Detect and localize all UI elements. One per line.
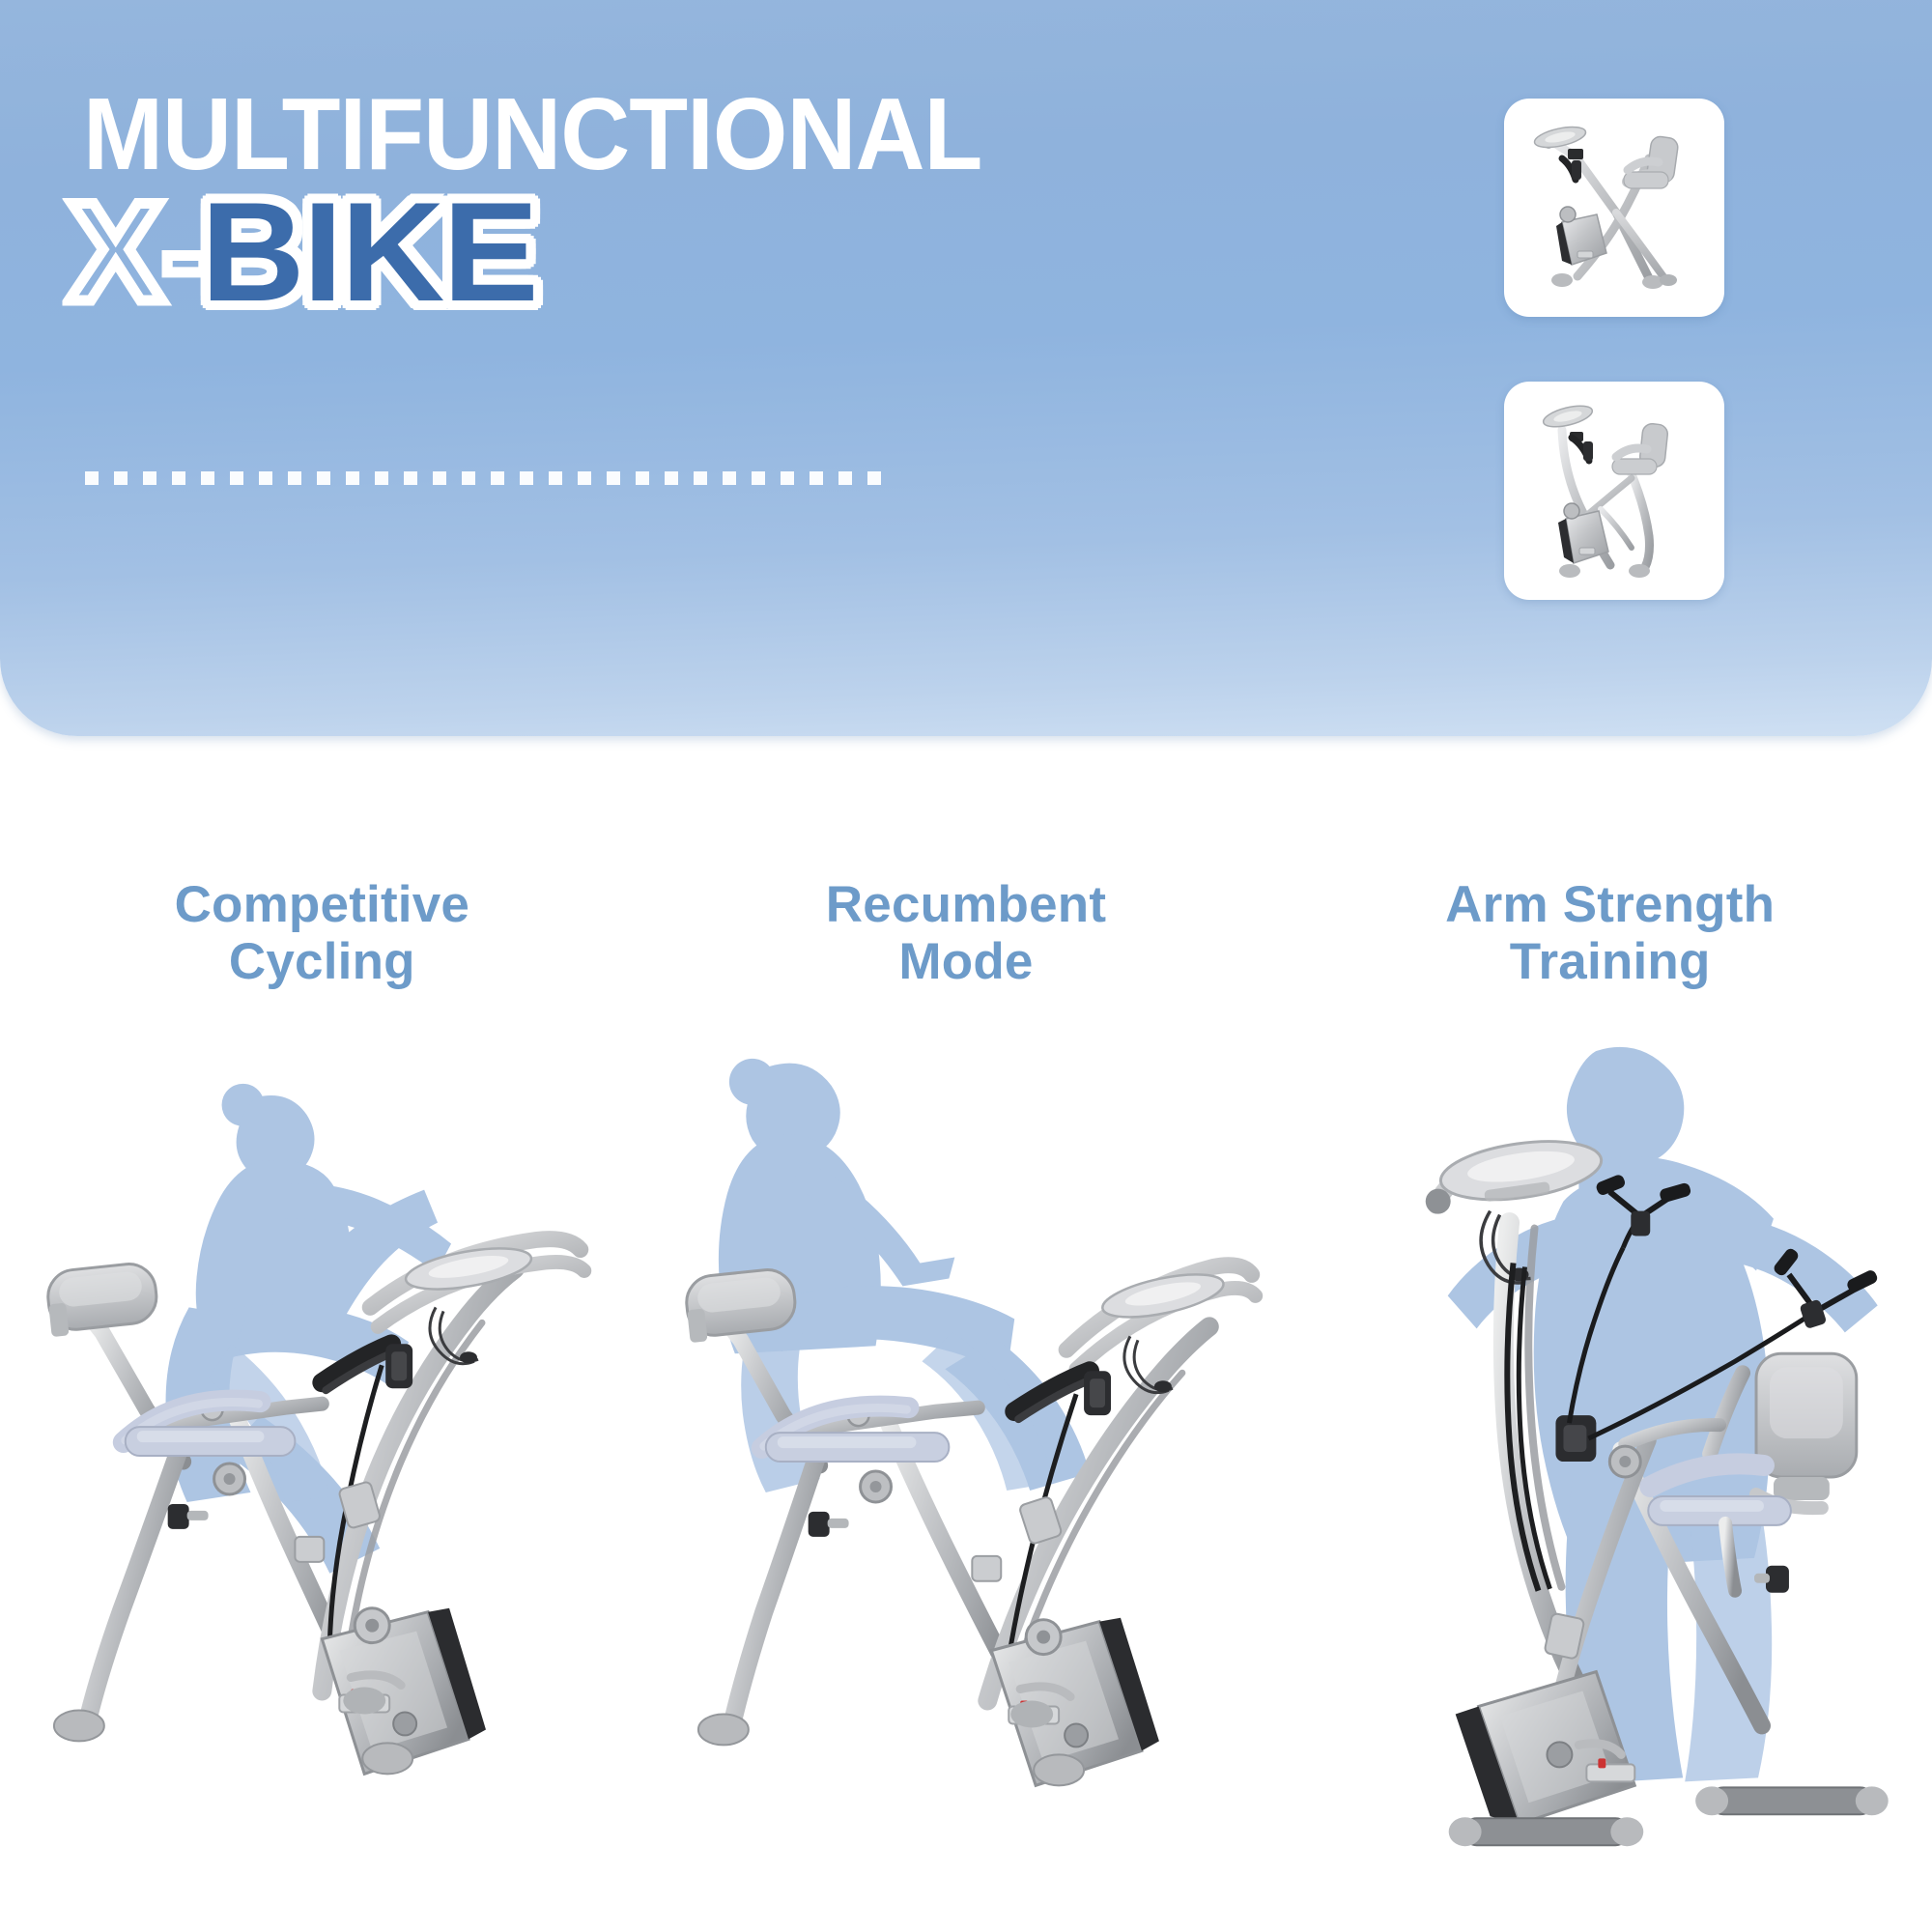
mode-competitive-cycling: Competitive Cycling (0, 736, 644, 1932)
mode-arm-strength: Arm Strength Training (1288, 736, 1932, 1932)
mode-label-competitive-cycling: Competitive Cycling (175, 876, 470, 991)
logo-bike-word: BIKE (201, 182, 537, 323)
rider-silhouette (166, 1084, 452, 1574)
mode-art-recumbent (644, 1026, 1289, 1932)
backrest (45, 1262, 159, 1337)
mode-recumbent: Recumbent Mode (644, 736, 1289, 1932)
backrest (1756, 1353, 1857, 1508)
page-title: MULTIFUNCTIONAL (83, 83, 981, 185)
hero-banner: MULTIFUNCTIONAL X- BIKE (0, 0, 1932, 736)
tension-knob (168, 1504, 209, 1529)
mode-art-competitive-cycling (0, 1026, 644, 1932)
mode-art-arm-strength (1288, 1026, 1932, 1932)
x-bike-unfolded-thumbnail[interactable] (1504, 99, 1724, 317)
mode-label-recumbent: Recumbent Mode (826, 876, 1106, 991)
product-logo: X- BIKE (68, 180, 530, 325)
hero-content: MULTIFUNCTIONAL X- BIKE (0, 0, 1932, 736)
tension-knob (808, 1512, 848, 1537)
modes-section: Competitive Cycling (0, 736, 1932, 1932)
mode-label-arm-strength: Arm Strength Training (1445, 876, 1775, 991)
frame-left-leg (89, 1455, 178, 1716)
dotted-divider (85, 471, 889, 485)
x-bike-folded-thumbnail[interactable] (1504, 382, 1724, 600)
frame-left-leg (733, 1460, 816, 1719)
logo-x-letter: X- (68, 182, 208, 323)
